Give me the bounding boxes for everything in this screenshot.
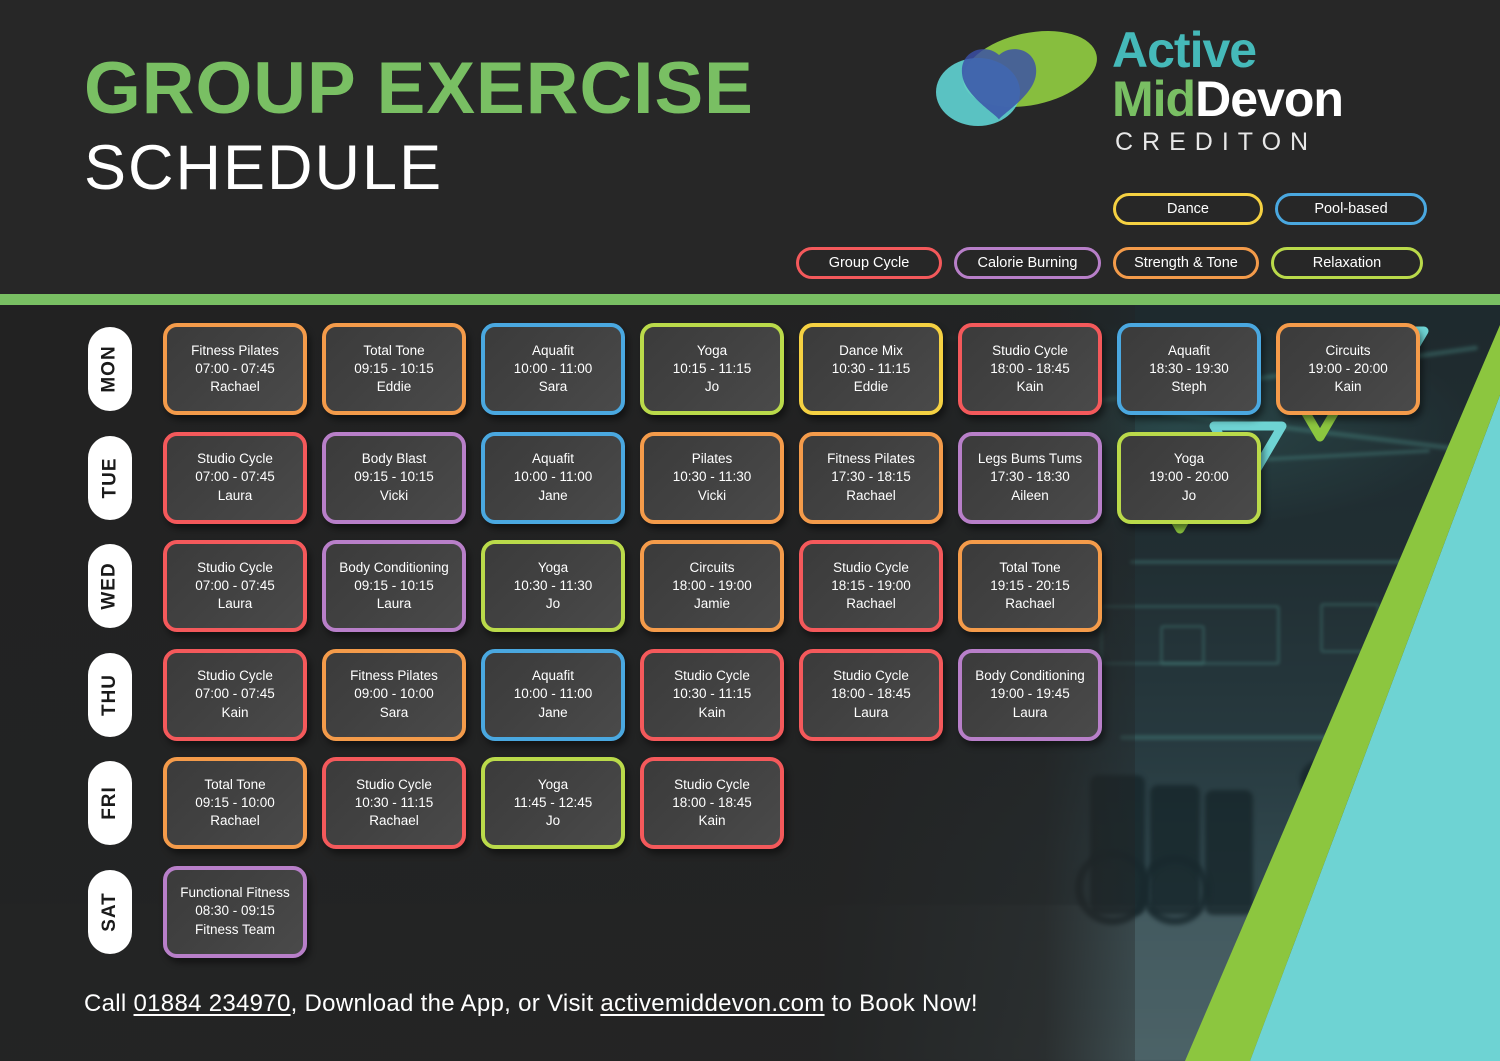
legend-pill-label: Relaxation <box>1313 255 1382 271</box>
class-card[interactable]: Aquafit18:30 - 19:30Steph <box>1117 323 1261 415</box>
class-instructor: Jo <box>546 812 560 830</box>
class-name: Aquafit <box>532 342 574 360</box>
class-card[interactable]: Total Tone09:15 - 10:15Eddie <box>322 323 466 415</box>
logo-line-crediton: CREDITON <box>1112 128 1343 157</box>
page-title-main: GROUP EXERCISE <box>84 52 754 125</box>
class-time: 11:45 - 12:45 <box>514 794 593 812</box>
class-instructor: Vicki <box>698 487 726 505</box>
day-label-text: THU <box>99 673 121 715</box>
class-instructor: Jo <box>1182 487 1196 505</box>
logo-mark-icon <box>930 24 1105 144</box>
class-time: 09:15 - 10:00 <box>195 794 275 812</box>
class-time: 18:30 - 19:30 <box>1149 360 1229 378</box>
class-time: 10:00 - 11:00 <box>514 468 593 486</box>
footer-call-prefix: Call <box>84 990 134 1017</box>
day-card-list: Functional Fitness08:30 - 09:15Fitness T… <box>163 866 307 958</box>
legend-row-top: DancePool-based <box>1113 193 1427 225</box>
class-card[interactable]: Yoga19:00 - 20:00Jo <box>1117 432 1261 524</box>
class-time: 10:15 - 11:15 <box>673 360 752 378</box>
day-label-fri: FRI <box>88 761 132 845</box>
class-time: 18:00 - 18:45 <box>990 360 1070 378</box>
day-label-wed: WED <box>88 544 132 628</box>
class-name: Body Blast <box>362 450 427 468</box>
class-time: 08:30 - 09:15 <box>195 902 275 920</box>
class-card[interactable]: Yoga10:15 - 11:15Jo <box>640 323 784 415</box>
day-card-list: Studio Cycle07:00 - 07:45LauraBody Condi… <box>163 540 1102 632</box>
logo-word-mid: Mid <box>1112 71 1195 127</box>
class-time: 19:15 - 20:15 <box>990 577 1070 595</box>
class-name: Yoga <box>538 559 568 577</box>
day-label-text: FRI <box>99 786 121 820</box>
class-card[interactable]: Fitness Pilates09:00 - 10:00Sara <box>322 649 466 741</box>
class-instructor: Fitness Team <box>195 921 275 939</box>
class-instructor: Kain <box>698 812 725 830</box>
class-name: Pilates <box>692 450 733 468</box>
class-name: Yoga <box>538 776 568 794</box>
class-time: 07:00 - 07:45 <box>195 577 275 595</box>
class-instructor: Rachael <box>210 378 260 396</box>
class-instructor: Rachael <box>846 487 896 505</box>
class-instructor: Laura <box>218 595 253 613</box>
class-time: 17:30 - 18:15 <box>831 468 911 486</box>
class-name: Fitness Pilates <box>350 667 438 685</box>
class-name: Aquafit <box>532 667 574 685</box>
class-instructor: Kain <box>1016 378 1043 396</box>
class-instructor: Sara <box>539 378 568 396</box>
class-instructor: Rachael <box>210 812 260 830</box>
legend-pill-label: Dance <box>1167 201 1209 217</box>
class-instructor: Aileen <box>1011 487 1049 505</box>
class-name: Studio Cycle <box>197 559 273 577</box>
day-label-thu: THU <box>88 653 132 737</box>
class-time: 09:15 - 10:15 <box>354 577 434 595</box>
class-name: Fitness Pilates <box>827 450 915 468</box>
class-instructor: Laura <box>218 487 253 505</box>
class-card[interactable]: Total Tone09:15 - 10:00Rachael <box>163 757 307 849</box>
class-card[interactable]: Studio Cycle07:00 - 07:45Kain <box>163 649 307 741</box>
class-instructor: Vicki <box>380 487 408 505</box>
day-label-text: MON <box>99 345 121 392</box>
footer-suffix-text: to Book Now! <box>825 990 978 1017</box>
day-label-text: TUE <box>99 457 121 498</box>
day-label-tue: TUE <box>88 436 132 520</box>
class-instructor: Jo <box>546 595 560 613</box>
day-label-text: WED <box>99 562 121 609</box>
class-name: Aquafit <box>1168 342 1210 360</box>
day-row-sat: SATFunctional Fitness08:30 - 09:15Fitnes… <box>0 866 1400 974</box>
class-card[interactable]: Aquafit10:00 - 11:00Sara <box>481 323 625 415</box>
legend-pill-strength-tone[interactable]: Strength & Tone <box>1113 247 1259 279</box>
class-card[interactable]: Studio Cycle18:00 - 18:45Kain <box>640 757 784 849</box>
legend-pill-label: Calorie Burning <box>978 255 1078 271</box>
footer-middle-text: , Download the App, or Visit <box>291 990 601 1017</box>
class-time: 10:30 - 11:15 <box>355 794 434 812</box>
class-time: 10:00 - 11:00 <box>514 685 593 703</box>
legend-pill-relaxation[interactable]: Relaxation <box>1271 247 1423 279</box>
class-name: Studio Cycle <box>674 667 750 685</box>
page-title-sub: SCHEDULE <box>84 137 754 200</box>
class-card[interactable]: Studio Cycle18:00 - 18:45Kain <box>958 323 1102 415</box>
class-card[interactable]: Fitness Pilates07:00 - 07:45Rachael <box>163 323 307 415</box>
class-time: 09:00 - 10:00 <box>354 685 434 703</box>
schedule-background-stage: MONFitness Pilates07:00 - 07:45RachaelTo… <box>0 305 1500 1061</box>
class-card[interactable]: Body Conditioning09:15 - 10:15Laura <box>322 540 466 632</box>
header-bar: GROUP EXERCISE SCHEDULE Active MidDevon … <box>0 0 1500 295</box>
class-time: 07:00 - 07:45 <box>195 360 275 378</box>
day-row-thu: THUStudio Cycle07:00 - 07:45KainFitness … <box>0 649 1400 757</box>
logo-line-middevon: MidDevon <box>1112 75 1343 124</box>
legend-pill-pool-based[interactable]: Pool-based <box>1275 193 1427 225</box>
class-instructor: Steph <box>1171 378 1206 396</box>
class-instructor: Rachael <box>846 595 896 613</box>
day-card-list: Studio Cycle07:00 - 07:45KainFitness Pil… <box>163 649 1102 741</box>
class-instructor: Jane <box>538 704 567 722</box>
class-name: Fitness Pilates <box>191 342 279 360</box>
class-instructor: Jamie <box>694 595 730 613</box>
class-name: Yoga <box>697 342 727 360</box>
title-block: GROUP EXERCISE SCHEDULE <box>84 52 754 200</box>
class-instructor: Rachael <box>369 812 419 830</box>
green-separator-band <box>0 294 1500 305</box>
class-card[interactable]: Circuits18:00 - 19:00Jamie <box>640 540 784 632</box>
logo-line-active: Active <box>1112 26 1343 75</box>
active-mid-devon-logo: Active MidDevon CREDITON <box>930 22 1400 172</box>
class-card[interactable]: Studio Cycle10:30 - 11:15Rachael <box>322 757 466 849</box>
class-time: 10:30 - 11:15 <box>832 360 911 378</box>
class-name: Dance Mix <box>839 342 903 360</box>
class-name: Body Conditioning <box>975 667 1085 685</box>
day-label-text: SAT <box>99 892 121 932</box>
class-name: Studio Cycle <box>833 559 909 577</box>
class-time: 10:00 - 11:00 <box>514 360 593 378</box>
footer-booking-text: Call 01884 234970, Download the App, or … <box>84 990 978 1018</box>
class-time: 10:30 - 11:30 <box>514 577 593 595</box>
class-time: 07:00 - 07:45 <box>195 685 275 703</box>
class-card[interactable]: Studio Cycle07:00 - 07:45Laura <box>163 540 307 632</box>
class-card[interactable]: Aquafit10:00 - 11:00Jane <box>481 649 625 741</box>
class-card[interactable]: Fitness Pilates17:30 - 18:15Rachael <box>799 432 943 524</box>
day-card-list: Studio Cycle07:00 - 07:45LauraBody Blast… <box>163 432 1261 524</box>
logo-word-devon: Devon <box>1195 71 1343 127</box>
class-time: 18:00 - 18:45 <box>831 685 911 703</box>
day-label-sat: SAT <box>88 870 132 954</box>
class-name: Studio Cycle <box>197 450 273 468</box>
class-instructor: Laura <box>377 595 412 613</box>
legend-pill-label: Pool-based <box>1314 201 1387 217</box>
class-card[interactable]: Aquafit10:00 - 11:00Jane <box>481 432 625 524</box>
class-time: 18:00 - 18:45 <box>672 794 752 812</box>
class-time: 19:00 - 20:00 <box>1308 360 1388 378</box>
legend-pill-label: Strength & Tone <box>1134 255 1238 271</box>
class-card[interactable]: Total Tone19:15 - 20:15Rachael <box>958 540 1102 632</box>
class-time: 09:15 - 10:15 <box>354 468 434 486</box>
class-card[interactable]: Circuits19:00 - 20:00Kain <box>1276 323 1420 415</box>
class-instructor: Eddie <box>377 378 412 396</box>
logo-wordmark: Active MidDevon CREDITON <box>1112 26 1343 157</box>
class-time: 10:30 - 11:30 <box>673 468 752 486</box>
class-instructor: Kain <box>698 704 725 722</box>
class-name: Yoga <box>1174 450 1204 468</box>
class-name: Studio Cycle <box>197 667 273 685</box>
class-card[interactable]: Studio Cycle07:00 - 07:45Laura <box>163 432 307 524</box>
footer-website-link[interactable]: activemiddevon.com <box>600 990 824 1017</box>
class-instructor: Jo <box>705 378 719 396</box>
schedule-grid: MONFitness Pilates07:00 - 07:45RachaelTo… <box>0 305 1500 1005</box>
class-instructor: Laura <box>1013 704 1048 722</box>
class-name: Studio Cycle <box>356 776 432 794</box>
class-time: 19:00 - 19:45 <box>990 685 1070 703</box>
class-name: Aquafit <box>532 450 574 468</box>
class-name: Circuits <box>689 559 734 577</box>
class-name: Studio Cycle <box>674 776 750 794</box>
legend-pill-group-cycle[interactable]: Group Cycle <box>796 247 942 279</box>
class-card[interactable]: Functional Fitness08:30 - 09:15Fitness T… <box>163 866 307 958</box>
class-card[interactable]: Body Blast09:15 - 10:15Vicki <box>322 432 466 524</box>
class-time: 07:00 - 07:45 <box>195 468 275 486</box>
class-card[interactable]: Studio Cycle18:15 - 19:00Rachael <box>799 540 943 632</box>
day-card-list: Fitness Pilates07:00 - 07:45RachaelTotal… <box>163 323 1420 415</box>
class-name: Functional Fitness <box>180 884 290 902</box>
class-instructor: Kain <box>1334 378 1361 396</box>
day-row-mon: MONFitness Pilates07:00 - 07:45RachaelTo… <box>0 323 1400 431</box>
day-row-fri: FRITotal Tone09:15 - 10:00RachaelStudio … <box>0 757 1400 865</box>
class-card[interactable]: Studio Cycle18:00 - 18:45Laura <box>799 649 943 741</box>
class-name: Body Conditioning <box>339 559 449 577</box>
class-name: Circuits <box>1325 342 1370 360</box>
class-card[interactable]: Dance Mix10:30 - 11:15Eddie <box>799 323 943 415</box>
day-label-mon: MON <box>88 327 132 411</box>
class-card[interactable]: Yoga10:30 - 11:30Jo <box>481 540 625 632</box>
legend-row-bottom: Group CycleCalorie BurningStrength & Ton… <box>796 247 1423 279</box>
legend-pill-calorie-burning[interactable]: Calorie Burning <box>954 247 1101 279</box>
class-time: 09:15 - 10:15 <box>354 360 434 378</box>
class-time: 19:00 - 20:00 <box>1149 468 1229 486</box>
day-card-list: Total Tone09:15 - 10:00RachaelStudio Cyc… <box>163 757 784 849</box>
class-instructor: Sara <box>380 704 409 722</box>
class-card[interactable]: Legs Bums Tums17:30 - 18:30Aileen <box>958 432 1102 524</box>
day-row-wed: WEDStudio Cycle07:00 - 07:45LauraBody Co… <box>0 540 1400 648</box>
legend-pill-label: Group Cycle <box>829 255 910 271</box>
class-time: 10:30 - 11:15 <box>673 685 752 703</box>
class-card[interactable]: Studio Cycle10:30 - 11:15Kain <box>640 649 784 741</box>
class-name: Studio Cycle <box>833 667 909 685</box>
class-card[interactable]: Yoga11:45 - 12:45Jo <box>481 757 625 849</box>
class-instructor: Rachael <box>1005 595 1055 613</box>
class-time: 18:00 - 19:00 <box>672 577 752 595</box>
class-name: Total Tone <box>204 776 265 794</box>
class-instructor: Jane <box>538 487 567 505</box>
day-row-tue: TUEStudio Cycle07:00 - 07:45LauraBody Bl… <box>0 432 1400 540</box>
class-name: Total Tone <box>363 342 424 360</box>
class-name: Studio Cycle <box>992 342 1068 360</box>
class-time: 17:30 - 18:30 <box>990 468 1070 486</box>
class-instructor: Laura <box>854 704 889 722</box>
class-card[interactable]: Body Conditioning19:00 - 19:45Laura <box>958 649 1102 741</box>
class-name: Legs Bums Tums <box>978 450 1082 468</box>
class-instructor: Eddie <box>854 378 889 396</box>
legend-pill-dance[interactable]: Dance <box>1113 193 1263 225</box>
footer-phone-number[interactable]: 01884 234970 <box>134 990 291 1017</box>
class-card[interactable]: Pilates10:30 - 11:30Vicki <box>640 432 784 524</box>
class-instructor: Kain <box>221 704 248 722</box>
class-name: Total Tone <box>999 559 1060 577</box>
class-time: 18:15 - 19:00 <box>831 577 911 595</box>
